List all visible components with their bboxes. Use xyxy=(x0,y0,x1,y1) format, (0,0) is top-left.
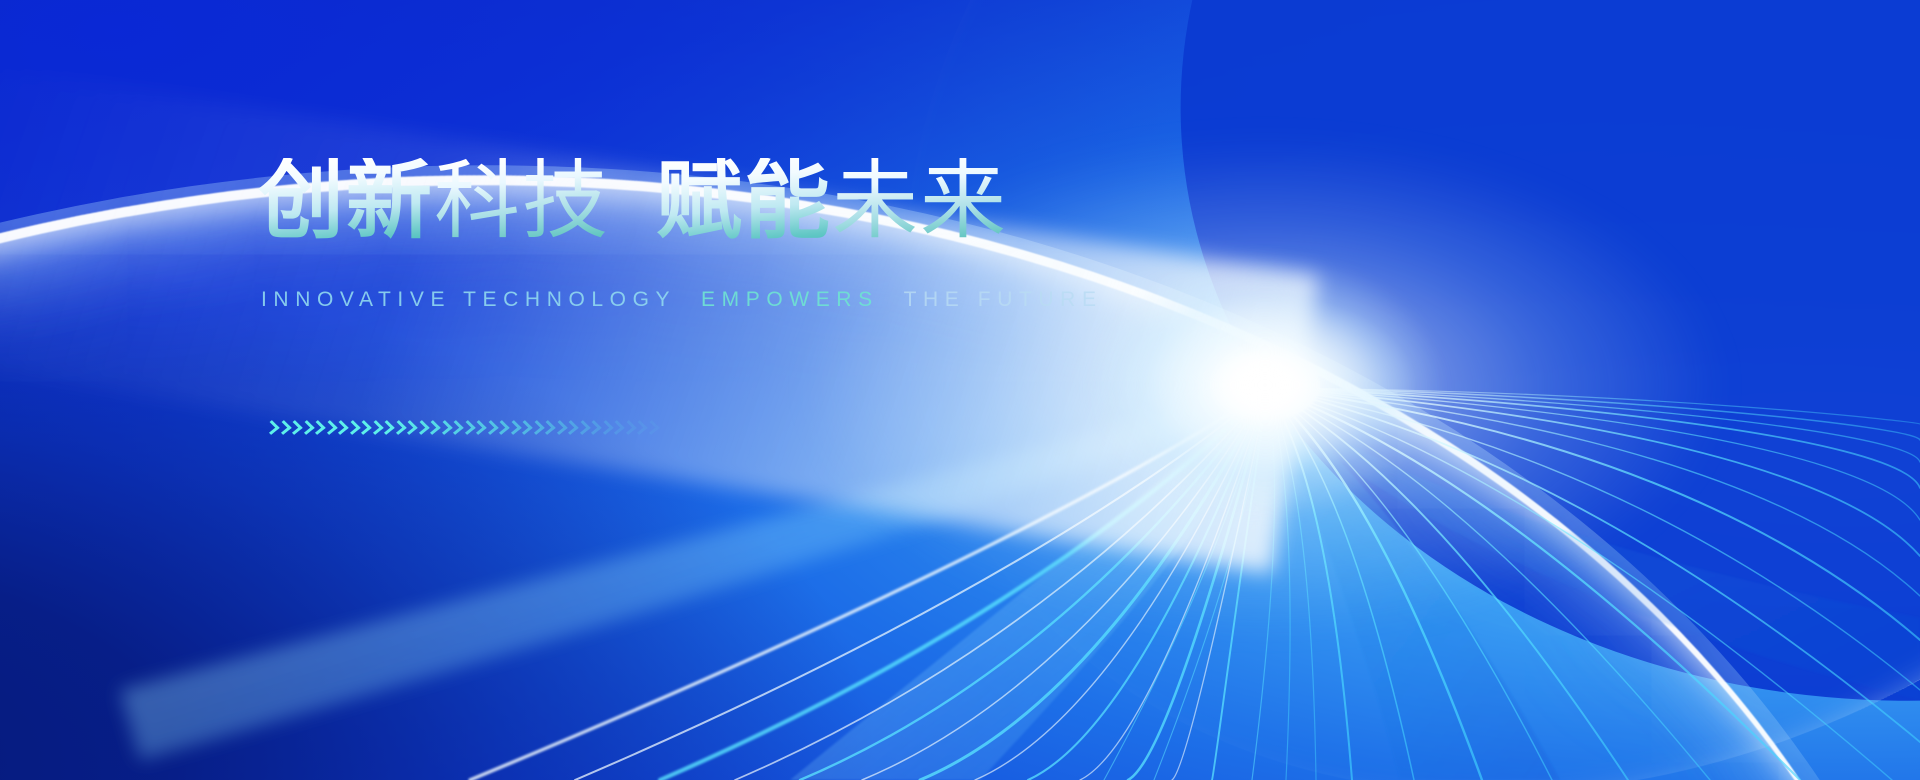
chevron-icon xyxy=(588,421,599,438)
chevron-icon xyxy=(439,421,450,438)
title-segment-empower: 赋能 xyxy=(656,158,832,244)
chevron-icon xyxy=(312,421,323,438)
banner-canvas: 创新 科技 赋能 未来 INNOVATIVE TECHNOLOGY EMPOWE… xyxy=(0,0,1920,780)
chevron-icon xyxy=(496,421,507,438)
headline-subtitle: INNOVATIVE TECHNOLOGY EMPOWERS THE FUTUR… xyxy=(261,288,1103,312)
chevron-icon xyxy=(427,421,438,438)
title-segment-technology: 科技 xyxy=(434,158,610,244)
subtitle-part-innovative-technology: INNOVATIVE TECHNOLOGY xyxy=(261,288,676,311)
chevron-icon xyxy=(611,421,622,438)
chevron-icon xyxy=(577,421,588,438)
chevron-icon xyxy=(289,421,300,438)
chevron-icon xyxy=(393,421,404,438)
chevron-icon xyxy=(473,421,484,438)
chevron-icon xyxy=(278,421,289,438)
subtitle-part-the-future: THE FUTURE xyxy=(904,288,1103,311)
chevron-icon xyxy=(623,421,634,438)
headline-title: 创新 科技 赋能 未来 xyxy=(258,158,1008,244)
chevron-icon xyxy=(324,421,335,438)
chevron-icon xyxy=(634,421,645,438)
chevron-icon xyxy=(508,421,519,438)
chevron-icon xyxy=(531,421,542,438)
chevron-arrow-strip xyxy=(266,414,686,444)
chevron-icon xyxy=(519,421,530,438)
chevron-icon xyxy=(542,421,553,438)
chevron-icon xyxy=(266,421,277,438)
title-segment-innovation: 创新 xyxy=(258,158,434,244)
chevron-icon xyxy=(347,421,358,438)
chevron-icon xyxy=(462,421,473,438)
chevron-icon xyxy=(565,421,576,438)
subtitle-part-empowers: EMPOWERS xyxy=(701,288,879,311)
chevron-icon xyxy=(358,421,369,438)
chevron-icon xyxy=(485,421,496,438)
chevron-icon xyxy=(450,421,461,438)
chevron-icon xyxy=(416,421,427,438)
chevron-icon xyxy=(554,421,565,438)
chevron-icon xyxy=(381,421,392,438)
chevron-icon xyxy=(646,421,657,438)
chevron-icon xyxy=(370,421,381,438)
chevron-icon xyxy=(404,421,415,438)
title-segment-future: 未来 xyxy=(832,158,1008,244)
chevron-icon xyxy=(600,421,611,438)
banner-content: 创新 科技 赋能 未来 INNOVATIVE TECHNOLOGY EMPOWE… xyxy=(0,0,1920,780)
chevron-icon xyxy=(301,421,312,438)
chevron-icon xyxy=(335,421,346,438)
